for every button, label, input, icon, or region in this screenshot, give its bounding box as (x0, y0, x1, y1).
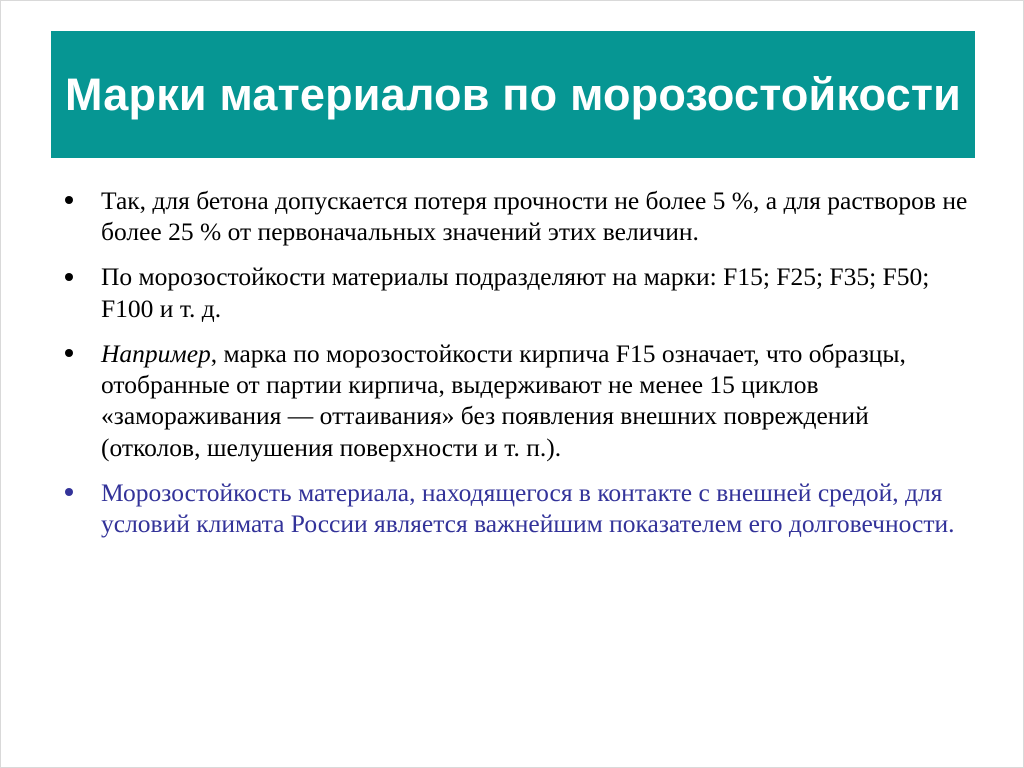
bullet-text-durability-indicator: Морозостойкость материала, находящегося … (101, 477, 973, 539)
bullet-text-brick-example: Например, марка по морозостойкости кирпи… (101, 338, 973, 463)
bullet-lead-emphasis: Например (101, 339, 211, 368)
list-item: Например, марка по морозостойкости кирпи… (53, 338, 973, 463)
list-item: Морозостойкость материала, находящегося … (53, 477, 973, 539)
list-item: По морозостойкости материалы подразделяю… (53, 261, 973, 323)
bullet-dot-icon (65, 349, 73, 357)
presentation-slide: Марки материалов по морозостойкости Так,… (0, 0, 1024, 768)
bullet-text-concrete-strength-loss: Так, для бетона допускается потеря прочн… (101, 185, 973, 247)
bullet-dot-icon (65, 196, 73, 204)
bullet-list: Так, для бетона допускается потеря прочн… (53, 185, 973, 539)
bullet-dot-icon (65, 488, 73, 496)
bullet-body-brick-example: , марка по морозостойкости кирпича F15 о… (101, 339, 906, 462)
list-item: Так, для бетона допускается потеря прочн… (53, 185, 973, 247)
page-title: Марки материалов по морозостойкости (51, 68, 975, 121)
slide-title-banner: Марки материалов по морозостойкости (51, 31, 975, 158)
bullet-text-frost-resistance-grades: По морозостойкости материалы подразделяю… (101, 261, 973, 323)
bullet-dot-icon (65, 273, 73, 281)
